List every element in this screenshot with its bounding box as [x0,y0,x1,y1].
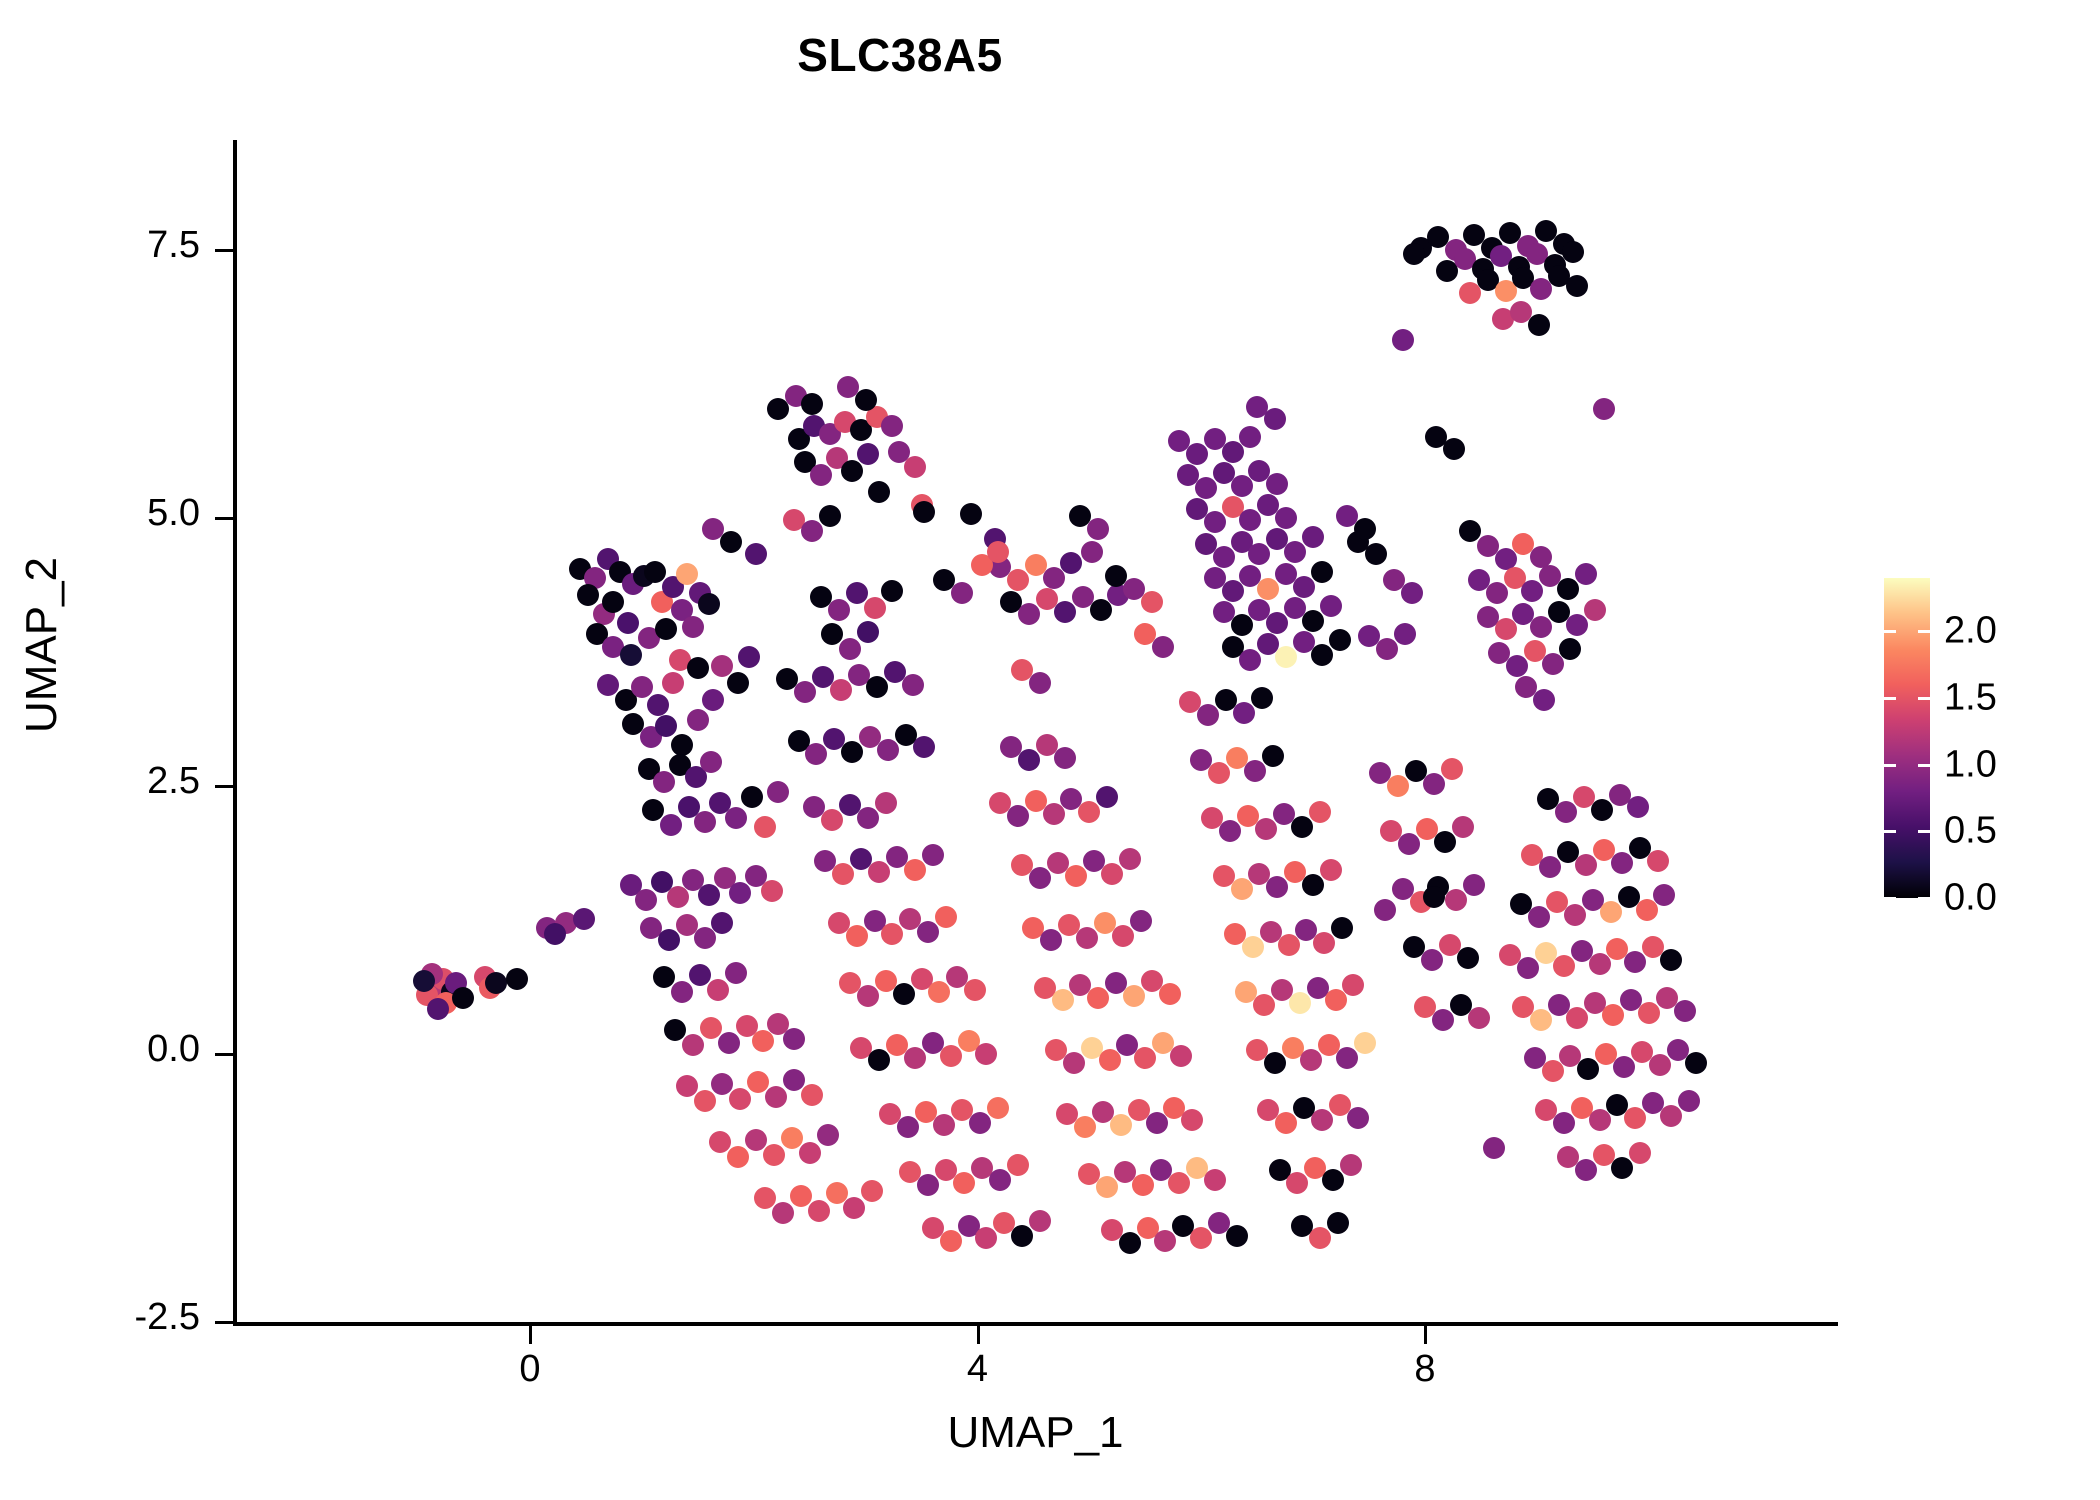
scatter-point [1530,1009,1552,1031]
scatter-point [987,541,1009,563]
scatter-point [902,674,924,696]
scatter-point [1040,929,1062,951]
y-axis-tick [215,249,233,252]
scatter-point [953,1172,975,1194]
scatter-point [1327,1212,1349,1234]
scatter-point [1577,1058,1599,1080]
scatter-point [573,908,595,930]
scatter-point [682,616,704,638]
scatter-point [940,1045,962,1067]
scatter-point [904,1047,926,1069]
scatter-point [1575,1159,1597,1181]
scatter-point [1007,1154,1029,1176]
scatter-point [940,1230,962,1252]
scatter-point [1054,747,1076,769]
scatter-point [877,739,899,761]
scatter-point [727,1146,749,1168]
scatter-point [913,736,935,758]
scatter-point [1445,889,1467,911]
scatter-point [1105,565,1127,587]
scatter-point [1423,886,1445,908]
scatter-point [1374,899,1396,921]
scatter-point [1311,644,1333,666]
scatter-point [1063,1052,1085,1074]
scatter-point [671,734,693,756]
x-axis-label: UMAP_1 [233,1408,1838,1458]
scatter-point [1060,552,1082,574]
scatter-point [1521,580,1543,602]
scatter-point [763,1144,785,1166]
scatter-point [783,1069,805,1091]
scatter-point [1222,580,1244,602]
scatter-point [1495,618,1517,640]
scatter-point [987,1097,1009,1119]
y-axis-line [233,140,237,1326]
scatter-point [1029,867,1051,889]
colorbar-tick [1884,830,1930,833]
scatter-point [875,792,897,814]
scatter-point [857,985,879,1007]
scatter-point [1119,1232,1141,1254]
scatter-point [647,694,669,716]
scatter-point [1403,243,1425,265]
scatter-point [707,979,729,1001]
scatter-point [868,481,890,503]
scatter-point [1600,901,1622,923]
scatter-point [1284,541,1306,563]
scatter-point [1398,833,1420,855]
scatter-point [1483,1137,1505,1159]
scatter-point [1329,629,1351,651]
scatter-point [1322,1169,1344,1191]
scatter-point [1325,989,1347,1011]
scatter-point [1251,687,1273,709]
scatter-point [1486,582,1508,604]
scatter-point [1112,925,1134,947]
scatter-point [617,612,639,634]
scatter-point [1354,518,1376,540]
scatter-point [752,1030,774,1052]
scatter-point [1286,1172,1308,1194]
scatter-point [1074,1116,1096,1138]
scatter-point [1542,1060,1564,1082]
scatter-point [1452,816,1474,838]
scatter-point [1181,1109,1203,1131]
scatter-point [711,912,733,934]
scatter-point [1081,541,1103,563]
scatter-point [1584,599,1606,621]
scatter-point [644,561,666,583]
scatter-point [1575,854,1597,876]
scatter-point [855,389,877,411]
scatter-point [767,781,789,803]
scatter-point [1029,672,1051,694]
scatter-point [694,1090,716,1112]
scatter-point [1613,1056,1635,1078]
scatter-point [1340,1154,1362,1176]
scatter-point [729,1088,751,1110]
scatter-point [1130,910,1152,932]
scatter-point [1591,799,1613,821]
scatter-point [729,882,751,904]
scatter-point [1611,1157,1633,1179]
scatter-point [989,1169,1011,1191]
scatter-point [1636,899,1658,921]
scatter-point [1096,1176,1118,1198]
scatter-point [687,657,709,679]
scatter-point [846,582,868,604]
scatter-point [1566,275,1588,297]
scatter-point [1154,1230,1176,1252]
scatter-point [1638,1002,1660,1024]
scatter-point [868,1049,890,1071]
colorbar-tick-label: 2.0 [1944,610,1997,653]
scatter-point [738,646,760,668]
scatter-point [1011,1225,1033,1247]
scatter-point [1649,1054,1671,1076]
scatter-point [1289,992,1311,1014]
y-axis-tick-label: 0.0 [80,1028,200,1071]
scatter-point [1423,773,1445,795]
scatter-point [653,771,675,793]
scatter-point [1309,801,1331,823]
y-axis-label: UMAP_2 [17,485,67,805]
scatter-point [727,672,749,694]
scatter-point [810,464,832,486]
scatter-point [660,814,682,836]
scatter-point [1018,749,1040,771]
scatter-point [969,1112,991,1134]
scatter-point [1311,1109,1333,1131]
scatter-point [881,923,903,945]
colorbar-tick-label: 1.0 [1944,743,1997,786]
scatter-point [933,1114,955,1136]
scatter-point [687,709,709,731]
scatter-point [1110,1114,1132,1136]
x-axis-tick-label: 0 [470,1348,590,1391]
scatter-point [698,593,720,615]
scatter-point [1123,985,1145,1007]
scatter-point [1528,314,1550,336]
scatter-point [1293,576,1315,598]
scatter-point [1401,582,1423,604]
page-title: SLC38A5 [0,28,1800,82]
scatter-point [1197,704,1219,726]
scatter-point [1674,1000,1696,1022]
scatter-point [1566,614,1588,636]
scatter-point [620,644,642,666]
colorbar-tick [1884,897,1930,900]
scatter-point [1244,760,1266,782]
scatter-point [1647,850,1669,872]
scatter-point [658,929,680,951]
scatter-point [1099,1049,1121,1071]
x-axis-line [233,1322,1838,1326]
scatter-point [745,1129,767,1151]
colorbar-tick-label: 1.5 [1944,677,1997,720]
scatter-point [1506,655,1528,677]
scatter-point [799,1142,821,1164]
scatter-point [1566,1007,1588,1029]
scatter-point [1101,863,1123,885]
scatter-point [1231,475,1253,497]
scatter-point [1275,1112,1297,1134]
scatter-point [1302,526,1324,548]
scatter-point [790,1185,812,1207]
scatter-point [861,1180,883,1202]
scatter-point [960,503,982,525]
scatter-point [832,863,854,885]
scatter-point [653,966,675,988]
scatter-point [694,811,716,833]
scatter-point [1533,689,1555,711]
scatter-point [765,1086,787,1108]
scatter-point [1253,994,1275,1016]
colorbar-tick-label: 0.0 [1944,877,1997,920]
scatter-point [893,983,915,1005]
scatter-point [720,531,742,553]
scatter-point [1134,1047,1156,1069]
scatter-point [1222,441,1244,463]
scatter-point [1387,775,1409,797]
scatter-point [676,563,698,585]
scatter-point [1347,1107,1369,1129]
scatter-point [1291,816,1313,838]
x-axis-tick-label: 8 [1365,1348,1485,1391]
scatter-point [1311,561,1333,583]
scatter-point [1624,1107,1646,1129]
scatter-point [1589,1109,1611,1131]
plot-panel [236,140,1838,1324]
scatter-point [694,927,716,949]
scatter-point [817,1124,839,1146]
scatter-point [821,623,843,645]
scatter-point [1336,1047,1358,1069]
scatter-point [671,981,693,1003]
scatter-point [1627,796,1649,818]
scatter-point [1168,1172,1190,1194]
scatter-point [1553,955,1575,977]
scatter-point [1629,1142,1651,1164]
scatter-point [1170,1045,1192,1067]
scatter-point [1441,758,1463,780]
scatter-point [747,1071,769,1093]
scatter-point [1331,917,1353,939]
scatter-point [843,1197,865,1219]
scatter-point [881,580,903,602]
scatter-point [718,1032,740,1054]
scatter-point [1313,932,1335,954]
scatter-point [1517,957,1539,979]
scatter-point [1542,653,1564,675]
scatter-point [1248,543,1270,565]
scatter-point [1602,1004,1624,1026]
scatter-point [846,925,868,947]
scatter-point [1262,745,1284,767]
scatter-point [702,689,724,711]
scatter-point [808,1200,830,1222]
scatter-point [1266,473,1288,495]
scatter-point [951,582,973,604]
scatter-point [975,1227,997,1249]
scatter-point [1255,818,1277,840]
scatter-point [1302,874,1324,896]
scatter-point [1624,951,1646,973]
y-axis-tick-label: 2.5 [80,760,200,803]
colorbar-tick-label: 0.5 [1944,810,1997,853]
scatter-point [857,443,879,465]
scatter-point [1443,438,1465,460]
scatter-point [828,599,850,621]
scatter-point [1275,507,1297,529]
scatter-point [1468,1007,1490,1029]
scatter-point [1421,949,1443,971]
scatter-point [839,638,861,660]
scatter-point [1043,803,1065,825]
scatter-point [1553,1112,1575,1134]
x-axis-tick [977,1326,980,1344]
y-axis-tick-label: 7.5 [80,224,200,267]
scatter-point [642,799,664,821]
x-axis-tick-label: 4 [918,1348,1038,1391]
scatter-point [904,456,926,478]
scatter-point [781,1127,803,1149]
scatter-point [1146,1112,1168,1134]
scatter-point [772,1202,794,1224]
scatter-point [1018,603,1040,625]
scatter-point [1589,953,1611,975]
scatter-point [655,715,677,737]
scatter-point [1539,856,1561,878]
scatter-point [913,501,935,523]
colorbar-tick [1884,630,1930,633]
scatter-points-layer [236,140,1838,1324]
scatter-point [676,1075,698,1097]
scatter-point [1559,638,1581,660]
scatter-point [1309,1227,1331,1249]
scatter-point [1342,974,1364,996]
scatter-point [1434,831,1456,853]
scatter-point [709,1131,731,1153]
scatter-point [1593,398,1615,420]
scatter-point [864,597,886,619]
scatter-point [1087,518,1109,540]
y-axis-tick [215,1053,233,1056]
scatter-point [754,816,776,838]
scatter-point [841,460,863,482]
scatter-point [1239,426,1261,448]
y-axis-tick [215,785,233,788]
scatter-point [1302,610,1324,632]
scatter-point [1564,904,1586,926]
y-axis-tick-label: -2.5 [80,1296,200,1339]
scatter-point [881,415,903,437]
scatter-point [1190,1227,1212,1249]
scatter-point [413,970,435,992]
scatter-point [577,584,599,606]
scatter-point [857,807,879,829]
scatter-point [1432,1009,1454,1031]
scatter-point [1264,1052,1286,1074]
scatter-point [754,1187,776,1209]
scatter-point [1275,646,1297,668]
scatter-point [1365,543,1387,565]
y-axis-tick [215,1321,233,1324]
scatter-point [935,906,957,928]
scatter-point [1266,876,1288,898]
scatter-point [761,880,783,902]
scatter-point [1052,989,1074,1011]
scatter-point [1159,983,1181,1005]
scatter-point [917,1174,939,1196]
scatter-point [1204,1169,1226,1191]
x-axis-tick [529,1326,532,1344]
scatter-point [1152,636,1174,658]
scatter-point [635,889,657,911]
scatter-point [544,923,566,945]
scatter-point [427,998,449,1020]
scatter-point [897,1116,919,1138]
colorbar-tick [1884,697,1930,700]
plot-root: { "chart_data": { "type": "scatter", "ti… [0,0,2100,1500]
scatter-point [1054,601,1076,623]
scatter-point [805,743,827,765]
scatter-point [1226,1225,1248,1247]
scatter-point [1029,1210,1051,1232]
scatter-point [1065,865,1087,887]
scatter-point [819,505,841,527]
scatter-point [1007,805,1029,827]
colorbar-tick [1884,764,1930,767]
scatter-point [904,859,926,881]
scatter-point [452,987,474,1009]
scatter-point [1257,578,1279,600]
scatter-point [1076,927,1098,949]
scatter-point [1242,936,1264,958]
scatter-point [1354,1032,1376,1054]
scatter-point [1233,702,1255,724]
scatter-point [857,621,879,643]
y-axis-tick-label: 5.0 [80,492,200,535]
scatter-point [1685,1052,1707,1074]
scatter-point [1213,546,1235,568]
scatter-point [1119,848,1141,870]
scatter-point [1528,906,1550,928]
scatter-point [964,979,986,1001]
scatter-point [1204,511,1226,533]
scatter-point [1457,947,1479,969]
scatter-point [1219,820,1241,842]
scatter-point [725,962,747,984]
scatter-point [1376,638,1398,660]
scatter-point [868,861,890,883]
y-axis-tick [215,517,233,520]
scatter-point [1555,801,1577,823]
scatter-point [830,679,852,701]
scatter-point [1007,569,1029,591]
scatter-point [917,921,939,943]
scatter-point [1611,852,1633,874]
scatter-point [667,886,689,908]
scatter-point [1231,614,1253,636]
scatter-point [1562,241,1584,263]
scatter-point [975,1043,997,1065]
scatter-point [1459,520,1481,542]
scatter-point [1208,762,1230,784]
scatter-point [1186,443,1208,465]
scatter-point [783,1028,805,1050]
x-axis-tick [1424,1326,1427,1344]
